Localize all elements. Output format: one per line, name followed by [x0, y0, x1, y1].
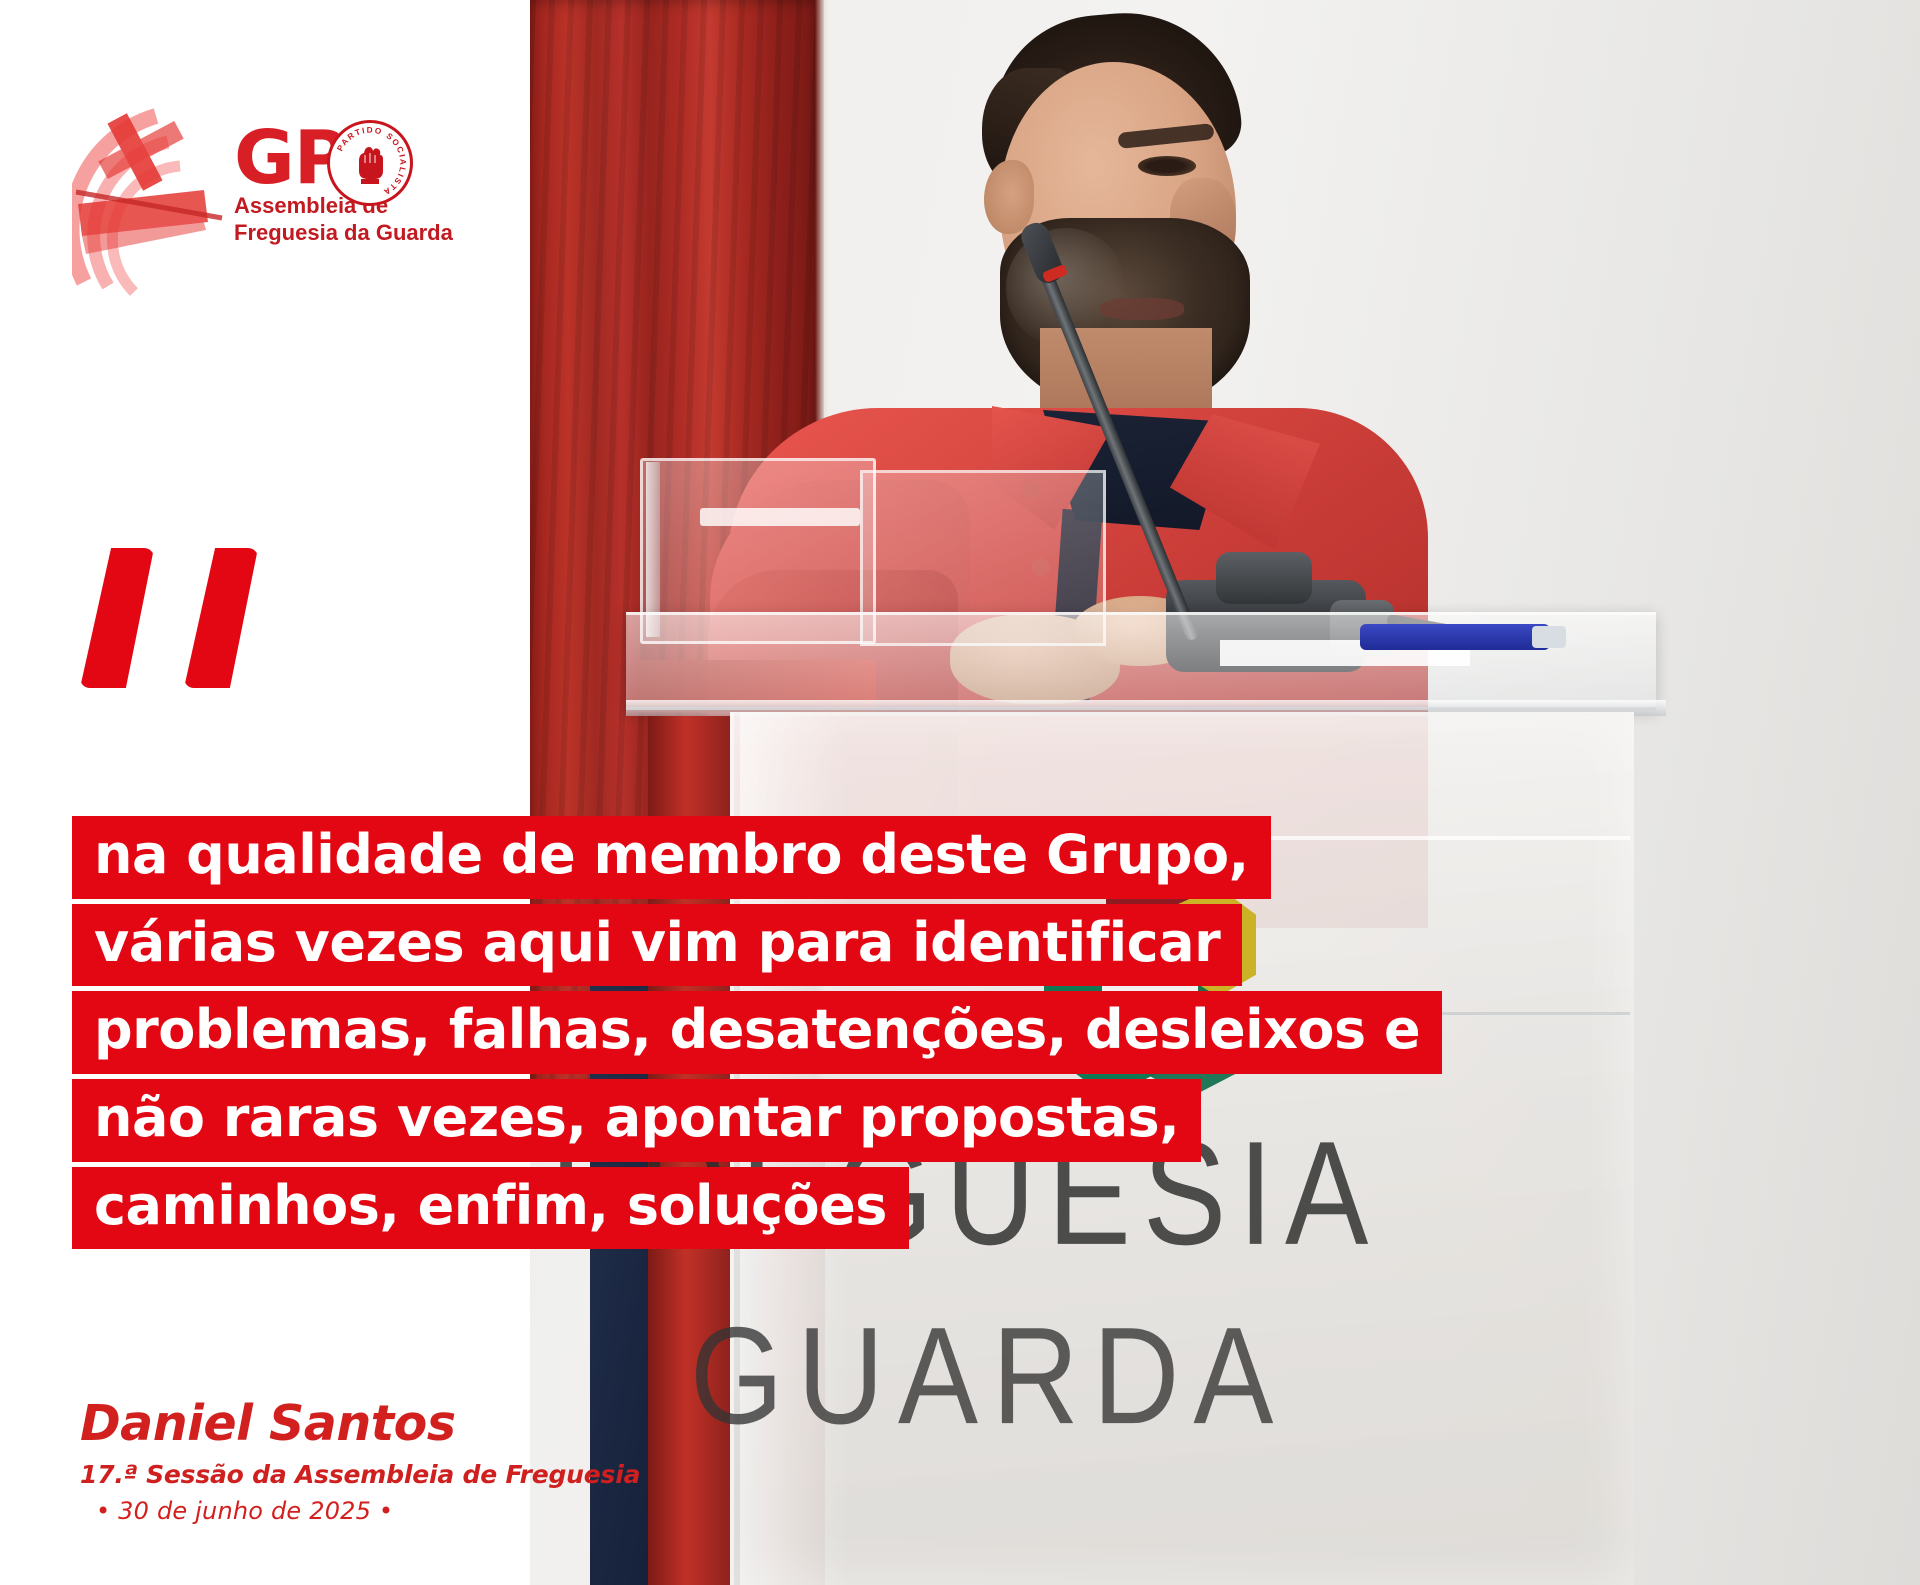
gps-subtitle-line2: Freguesia da Guarda [234, 221, 453, 246]
gps-logo: GPS Assembleia de Freguesia da Guarda PA… [72, 96, 492, 306]
session-date: • 30 de junho de 2025 • [96, 1497, 640, 1525]
marker-pen-cap [1532, 626, 1566, 648]
quotation-mark-icon [72, 548, 332, 698]
acrylic-crossbar [700, 508, 860, 526]
quote-line: caminhos, enfim, soluções [72, 1167, 909, 1250]
session-label: 17.ª Sessão da Assembleia de Freguesia [80, 1460, 640, 1489]
quote-text-block: na qualidade de membro deste Grupo, vári… [72, 816, 1442, 1254]
quote-stroke-right [184, 548, 258, 688]
speaker-ear [984, 160, 1034, 234]
microphone-base-riser [1216, 552, 1312, 604]
quote-line: na qualidade de membro deste Grupo, [72, 816, 1271, 899]
partido-socialista-emblem: PARTIDO SOCIALISTA [327, 120, 413, 206]
podium-wordmark-guarda: GUARDA [690, 1307, 1630, 1445]
quote-line: várias vezes aqui vim para identificar [72, 904, 1242, 987]
quote-line: não raras vezes, apontar propostas, [72, 1079, 1201, 1162]
blue-marker-pen [1360, 624, 1550, 650]
quote-stroke-left [80, 548, 154, 688]
raised-fist-icon [352, 141, 388, 185]
speaker-eye [1138, 156, 1196, 176]
speaker-photo: FREGUESIA GUARDA [530, 0, 1920, 1585]
acrylic-support [646, 462, 660, 637]
speaker-name: Daniel Santos [80, 1398, 640, 1449]
attribution-block: Daniel Santos 17.ª Sessão da Assembleia … [80, 1398, 640, 1525]
speaker-mouth [1100, 298, 1184, 320]
quote-line: problemas, falhas, desatenções, desleixo… [72, 991, 1442, 1074]
